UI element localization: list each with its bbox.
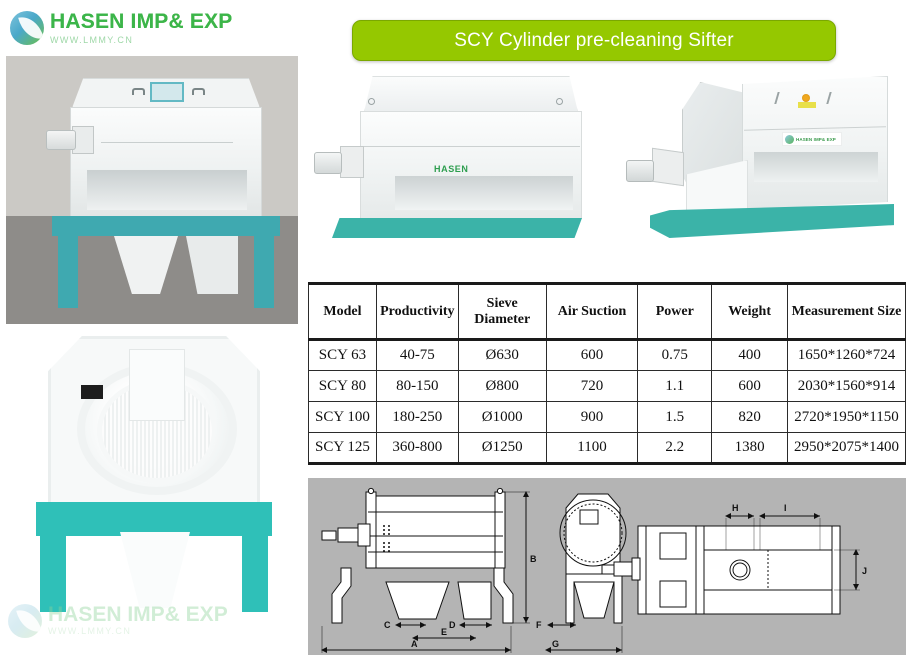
lifting-eye-left-icon (368, 98, 375, 105)
caution-label-icon (798, 102, 816, 108)
drawing-dimension-labels-side: F G (536, 620, 559, 649)
drive-housing (340, 146, 364, 178)
title-banner: SCY Cylinder pre-cleaning Sifter (352, 20, 836, 61)
drawing-top-plan (602, 526, 840, 614)
motor-icon (46, 130, 76, 150)
cell-air-suction: 900 (546, 402, 638, 433)
dimension-label-B: B (530, 554, 537, 564)
drawing-side-elevation (560, 494, 626, 623)
table-row: SCY 63 40-75 Ø630 600 0.75 400 1650*1260… (309, 340, 906, 371)
cell-sieve-diameter: Ø630 (458, 340, 546, 371)
cell-power: 1.5 (638, 402, 712, 433)
machine-cutaway-illustration (48, 336, 260, 546)
cell-productivity: 360-800 (376, 433, 458, 464)
page-title: SCY Cylinder pre-cleaning Sifter (454, 30, 734, 52)
product-photo-perspective-view: HASEN IMP& EXP (612, 66, 904, 270)
cell-weight: 600 (712, 371, 788, 402)
column-header-air-suction: Air Suction (546, 284, 638, 340)
drawing-front-elevation (322, 488, 513, 623)
cell-sieve-diameter: Ø1000 (458, 402, 546, 433)
column-header-weight: Weight (712, 284, 788, 340)
machine-stand (52, 216, 280, 308)
cell-weight: 400 (712, 340, 788, 371)
stand-leg-left (58, 234, 78, 308)
motor-icon (626, 160, 654, 182)
table-header: Model Productivity Sieve Diameter Air Su… (309, 284, 906, 340)
company-logo: HASEN IMP& EXP WWW.LMMY.CN (10, 8, 310, 54)
table-header-row: Model Productivity Sieve Diameter Air Su… (309, 284, 906, 340)
cell-power: 2.2 (638, 433, 712, 464)
column-header-sieve-diameter: Sieve Diameter (458, 284, 546, 340)
logo-text-group: HASEN IMP& EXP WWW.LMMY.CN (50, 10, 233, 45)
machine-shell (48, 336, 260, 512)
cell-sieve-diameter: Ø800 (458, 371, 546, 402)
table-body: SCY 63 40-75 Ø630 600 0.75 400 1650*1260… (309, 340, 906, 464)
cell-measurement-size: 2950*2075*1400 (788, 433, 906, 464)
warning-decal-icon (802, 94, 810, 102)
cell-productivity: 40-75 (376, 340, 458, 371)
cell-air-suction: 720 (546, 371, 638, 402)
machine-side-illustration: HASEN (338, 76, 588, 238)
specification-table: Model Productivity Sieve Diameter Air Su… (308, 282, 906, 465)
logo-website: WWW.LMMY.CN (50, 35, 233, 45)
machine-stand (36, 502, 272, 612)
column-header-model: Model (309, 284, 377, 340)
discharge-hopper-secondary (186, 236, 238, 294)
machine-brand-text: HASEN (434, 164, 469, 174)
watermark-logo: HASEN IMP& EXP WWW.LMMY.CN (8, 600, 288, 648)
discharge-hopper (120, 532, 190, 608)
brand-sticker: HASEN IMP& EXP (782, 132, 842, 146)
cell-sieve-diameter: Ø1250 (458, 433, 546, 464)
cell-weight: 1380 (712, 433, 788, 464)
technical-drawing-panel: B C D E A F G (308, 478, 906, 655)
machine-front-illustration (70, 78, 262, 218)
lifting-eye-right-icon (556, 98, 563, 105)
machine-body (70, 107, 262, 218)
machine-body (360, 111, 582, 219)
dimension-label-A: A (411, 639, 418, 649)
product-photo-front-view (6, 56, 298, 324)
dimension-label-E: E (441, 627, 447, 637)
inlet-chute (129, 349, 185, 421)
cell-measurement-size: 1650*1260*724 (788, 340, 906, 371)
inspection-window (150, 82, 184, 102)
cell-model: SCY 125 (309, 433, 377, 464)
product-photo-cutaway-view (6, 330, 298, 612)
stand-rail (52, 216, 280, 236)
cell-weight: 820 (712, 402, 788, 433)
machine-base (332, 218, 582, 238)
machine-perspective-illustration: HASEN IMP& EXP (630, 74, 892, 246)
cell-power: 0.75 (638, 340, 712, 371)
table-row: SCY 80 80-150 Ø800 720 1.1 600 2030*1560… (309, 371, 906, 402)
control-box-icon (81, 385, 103, 399)
logo-title: HASEN IMP& EXP (50, 10, 233, 34)
watermark-title: HASEN IMP& EXP (48, 603, 228, 627)
column-header-power: Power (638, 284, 712, 340)
cell-model: SCY 100 (309, 402, 377, 433)
table-row: SCY 125 360-800 Ø1250 1100 2.2 1380 2950… (309, 433, 906, 464)
stand-rail (36, 502, 272, 536)
machine-cavity (395, 176, 573, 210)
machine-cavity (754, 152, 878, 182)
page-header: HASEN IMP& EXP WWW.LMMY.CN SCY Cylinder … (0, 0, 910, 62)
wave-globe-logo-icon (8, 604, 42, 638)
machine-cavity (87, 170, 247, 210)
brand-sticker-text: HASEN IMP& EXP (796, 137, 836, 142)
wave-globe-logo-icon (10, 11, 44, 45)
dimension-label-H: H (732, 503, 739, 513)
machine-hood (364, 76, 578, 112)
cell-productivity: 80-150 (376, 371, 458, 402)
cell-power: 1.1 (638, 371, 712, 402)
dimension-label-D: D (449, 620, 456, 630)
discharge-hopper (114, 236, 178, 294)
dimension-label-C: C (384, 620, 391, 630)
dimension-label-F: F (536, 620, 542, 630)
motor-icon (314, 152, 342, 174)
dimension-label-J: J (862, 566, 867, 576)
cell-measurement-size: 2030*1560*914 (788, 371, 906, 402)
cell-productivity: 180-250 (376, 402, 458, 433)
cell-measurement-size: 2720*1950*1150 (788, 402, 906, 433)
watermark-website: WWW.LMMY.CN (48, 626, 131, 636)
wave-globe-logo-icon (785, 135, 794, 144)
drive-housing (652, 148, 684, 186)
technical-drawing-svg: B C D E A F G (308, 478, 906, 655)
machine-seam (362, 146, 580, 147)
cell-air-suction: 600 (546, 340, 638, 371)
machine-seam (101, 142, 233, 143)
cell-model: SCY 80 (309, 371, 377, 402)
handle-right-icon (192, 88, 205, 95)
cell-air-suction: 1100 (546, 433, 638, 464)
dimension-label-G: G (552, 639, 559, 649)
product-photo-side-view: HASEN (310, 66, 602, 270)
stand-leg-right (254, 234, 274, 308)
cell-model: SCY 63 (309, 340, 377, 371)
dimension-label-I: I (784, 503, 787, 513)
column-header-productivity: Productivity (376, 284, 458, 340)
handle-left-icon (132, 88, 145, 95)
column-header-measurement-size: Measurement Size (788, 284, 906, 340)
table-row: SCY 100 180-250 Ø1000 900 1.5 820 2720*1… (309, 402, 906, 433)
